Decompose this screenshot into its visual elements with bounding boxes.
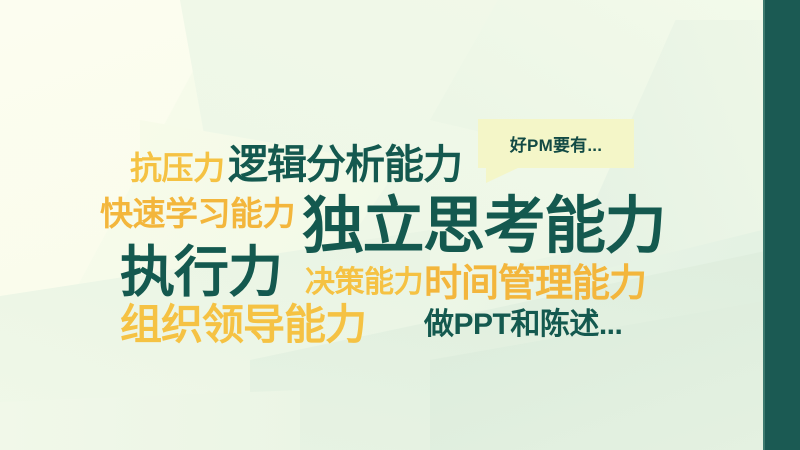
word-zuo-ppt-he-chenshu: 做PPT和陈述... [424,310,622,340]
word-kuaisu-xuexi-nengli: 快速学习能力 [100,197,295,230]
word-shijian-guanli-nengli: 时间管理能力 [424,265,646,303]
slide-canvas: 好PM要有... 抗压力 逻辑分析能力 快速学习能力 独立思考能力 执行力 决策… [0,0,800,450]
word-kangyali: 抗压力 [130,152,225,184]
word-zuzhi-lingdao-nengli: 组织领导能力 [120,304,366,346]
word-zhixingli: 执行力 [120,245,282,300]
word-juece-nengli: 决策能力 [305,268,423,298]
word-luoji-fenxi-nengli: 逻辑分析能力 [228,145,462,185]
speech-bubble: 好PM要有... [478,119,634,168]
speech-bubble-text: 好PM要有... [510,131,602,156]
speech-bubble-tail [486,167,520,183]
word-duli-sikao-nengli: 独立思考能力 [302,196,665,258]
right-accent-bar [765,0,800,450]
